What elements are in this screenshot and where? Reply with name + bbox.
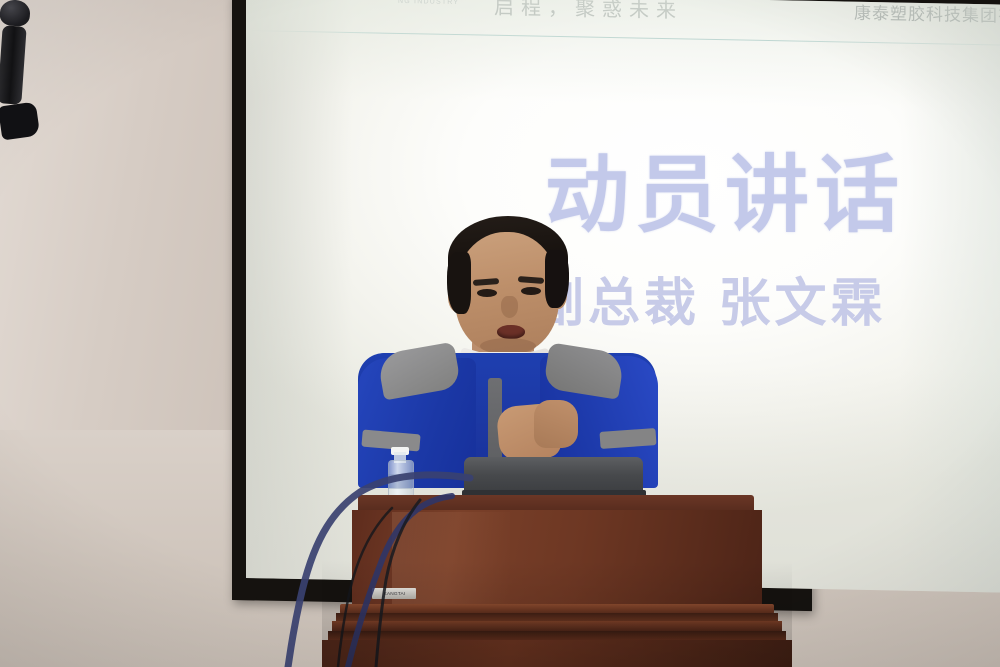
slide-subtitle: 副总裁 张文霖 bbox=[532, 261, 886, 336]
podium-nameplate: KANGTAI bbox=[372, 588, 416, 599]
slide-title: 动员讲话 bbox=[545, 128, 905, 249]
slide-company-text: 康泰塑胶科技集团有 bbox=[854, 0, 1000, 27]
podium-base bbox=[322, 640, 792, 667]
speaker-hand-right bbox=[534, 400, 578, 448]
speaker-nose bbox=[501, 296, 518, 318]
podium-nameplate-text: KANGTAI bbox=[383, 591, 405, 597]
speaker-hair-side-right bbox=[545, 250, 569, 308]
water-bottle-label bbox=[388, 474, 412, 489]
speaker-eye-right bbox=[521, 287, 541, 295]
speaker-mouth bbox=[497, 325, 525, 339]
projection-screen-foot bbox=[256, 588, 270, 600]
speaker-hair-side-left bbox=[447, 252, 471, 314]
slide-tagline-text: 启程，聚惑未来 bbox=[494, 0, 683, 23]
speaker-eye-left bbox=[477, 289, 497, 297]
slide-eyebrow-text: NG INDUSTRY bbox=[398, 0, 459, 6]
presentation-photo-scene: NG INDUSTRY 启程，聚惑未来 康泰塑胶科技集团有 动员讲话 副总裁 张… bbox=[0, 0, 1000, 667]
microphone-head-icon bbox=[0, 0, 31, 27]
